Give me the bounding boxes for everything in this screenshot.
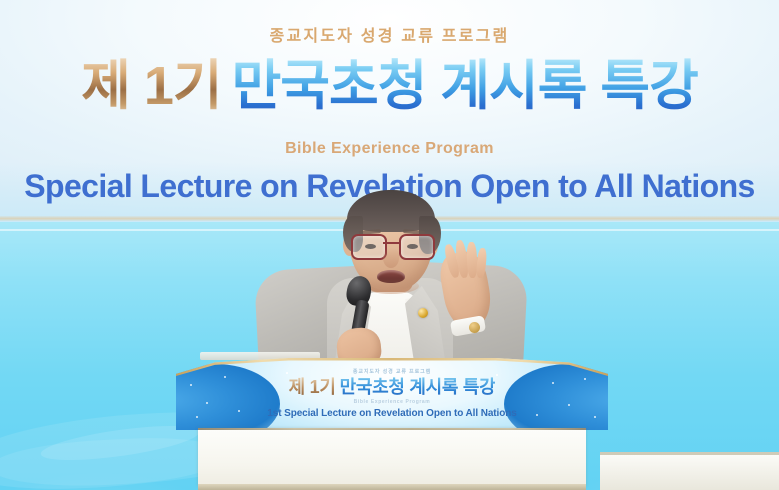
podium-title-main: 만국초청 계시록 특강 [340, 377, 496, 397]
podium-korean-subtitle: 종교지도자 성경 교류 프로그램 [176, 368, 608, 375]
eyeglass-bridge [383, 242, 399, 244]
nose [383, 248, 399, 268]
lapel-pin-icon [418, 308, 428, 318]
podium: 종교지도자 성경 교류 프로그램 제 1기만국초청 계시록 특강 Bible E… [176, 358, 608, 490]
chin [363, 278, 419, 294]
eyeglass-lens-left [351, 234, 387, 260]
banner-korean-title: 제 1기만국초청 계시록 특강 [0, 55, 779, 117]
banner-korean-subtitle: 종교지도자 성경 교류 프로그램 [0, 22, 779, 46]
banner-title-prefix: 제 1기 [81, 56, 231, 116]
podium-korean-title: 제 1기만국초청 계시록 특강 [176, 376, 608, 398]
banner-title-main: 만국초청 계시록 특강 [232, 56, 698, 116]
table-surface [600, 455, 779, 490]
podium-title-prefix: 제 1기 [289, 377, 340, 397]
eyeglass-lens-right [399, 234, 435, 260]
banner-english-subtitle: Bible Experience Program [0, 140, 779, 158]
screenshot-canvas: 종교지도자 성경 교류 프로그램 제 1기만국초청 계시록 특강 Bible E… [0, 0, 779, 490]
wristwatch-icon [469, 322, 480, 333]
podium-base [198, 430, 586, 488]
podium-foot [198, 484, 586, 490]
podium-english-subtitle: Bible Experience Program [176, 399, 608, 405]
podium-english-title: 1st Special Lecture on Revelation Open t… [176, 408, 608, 419]
